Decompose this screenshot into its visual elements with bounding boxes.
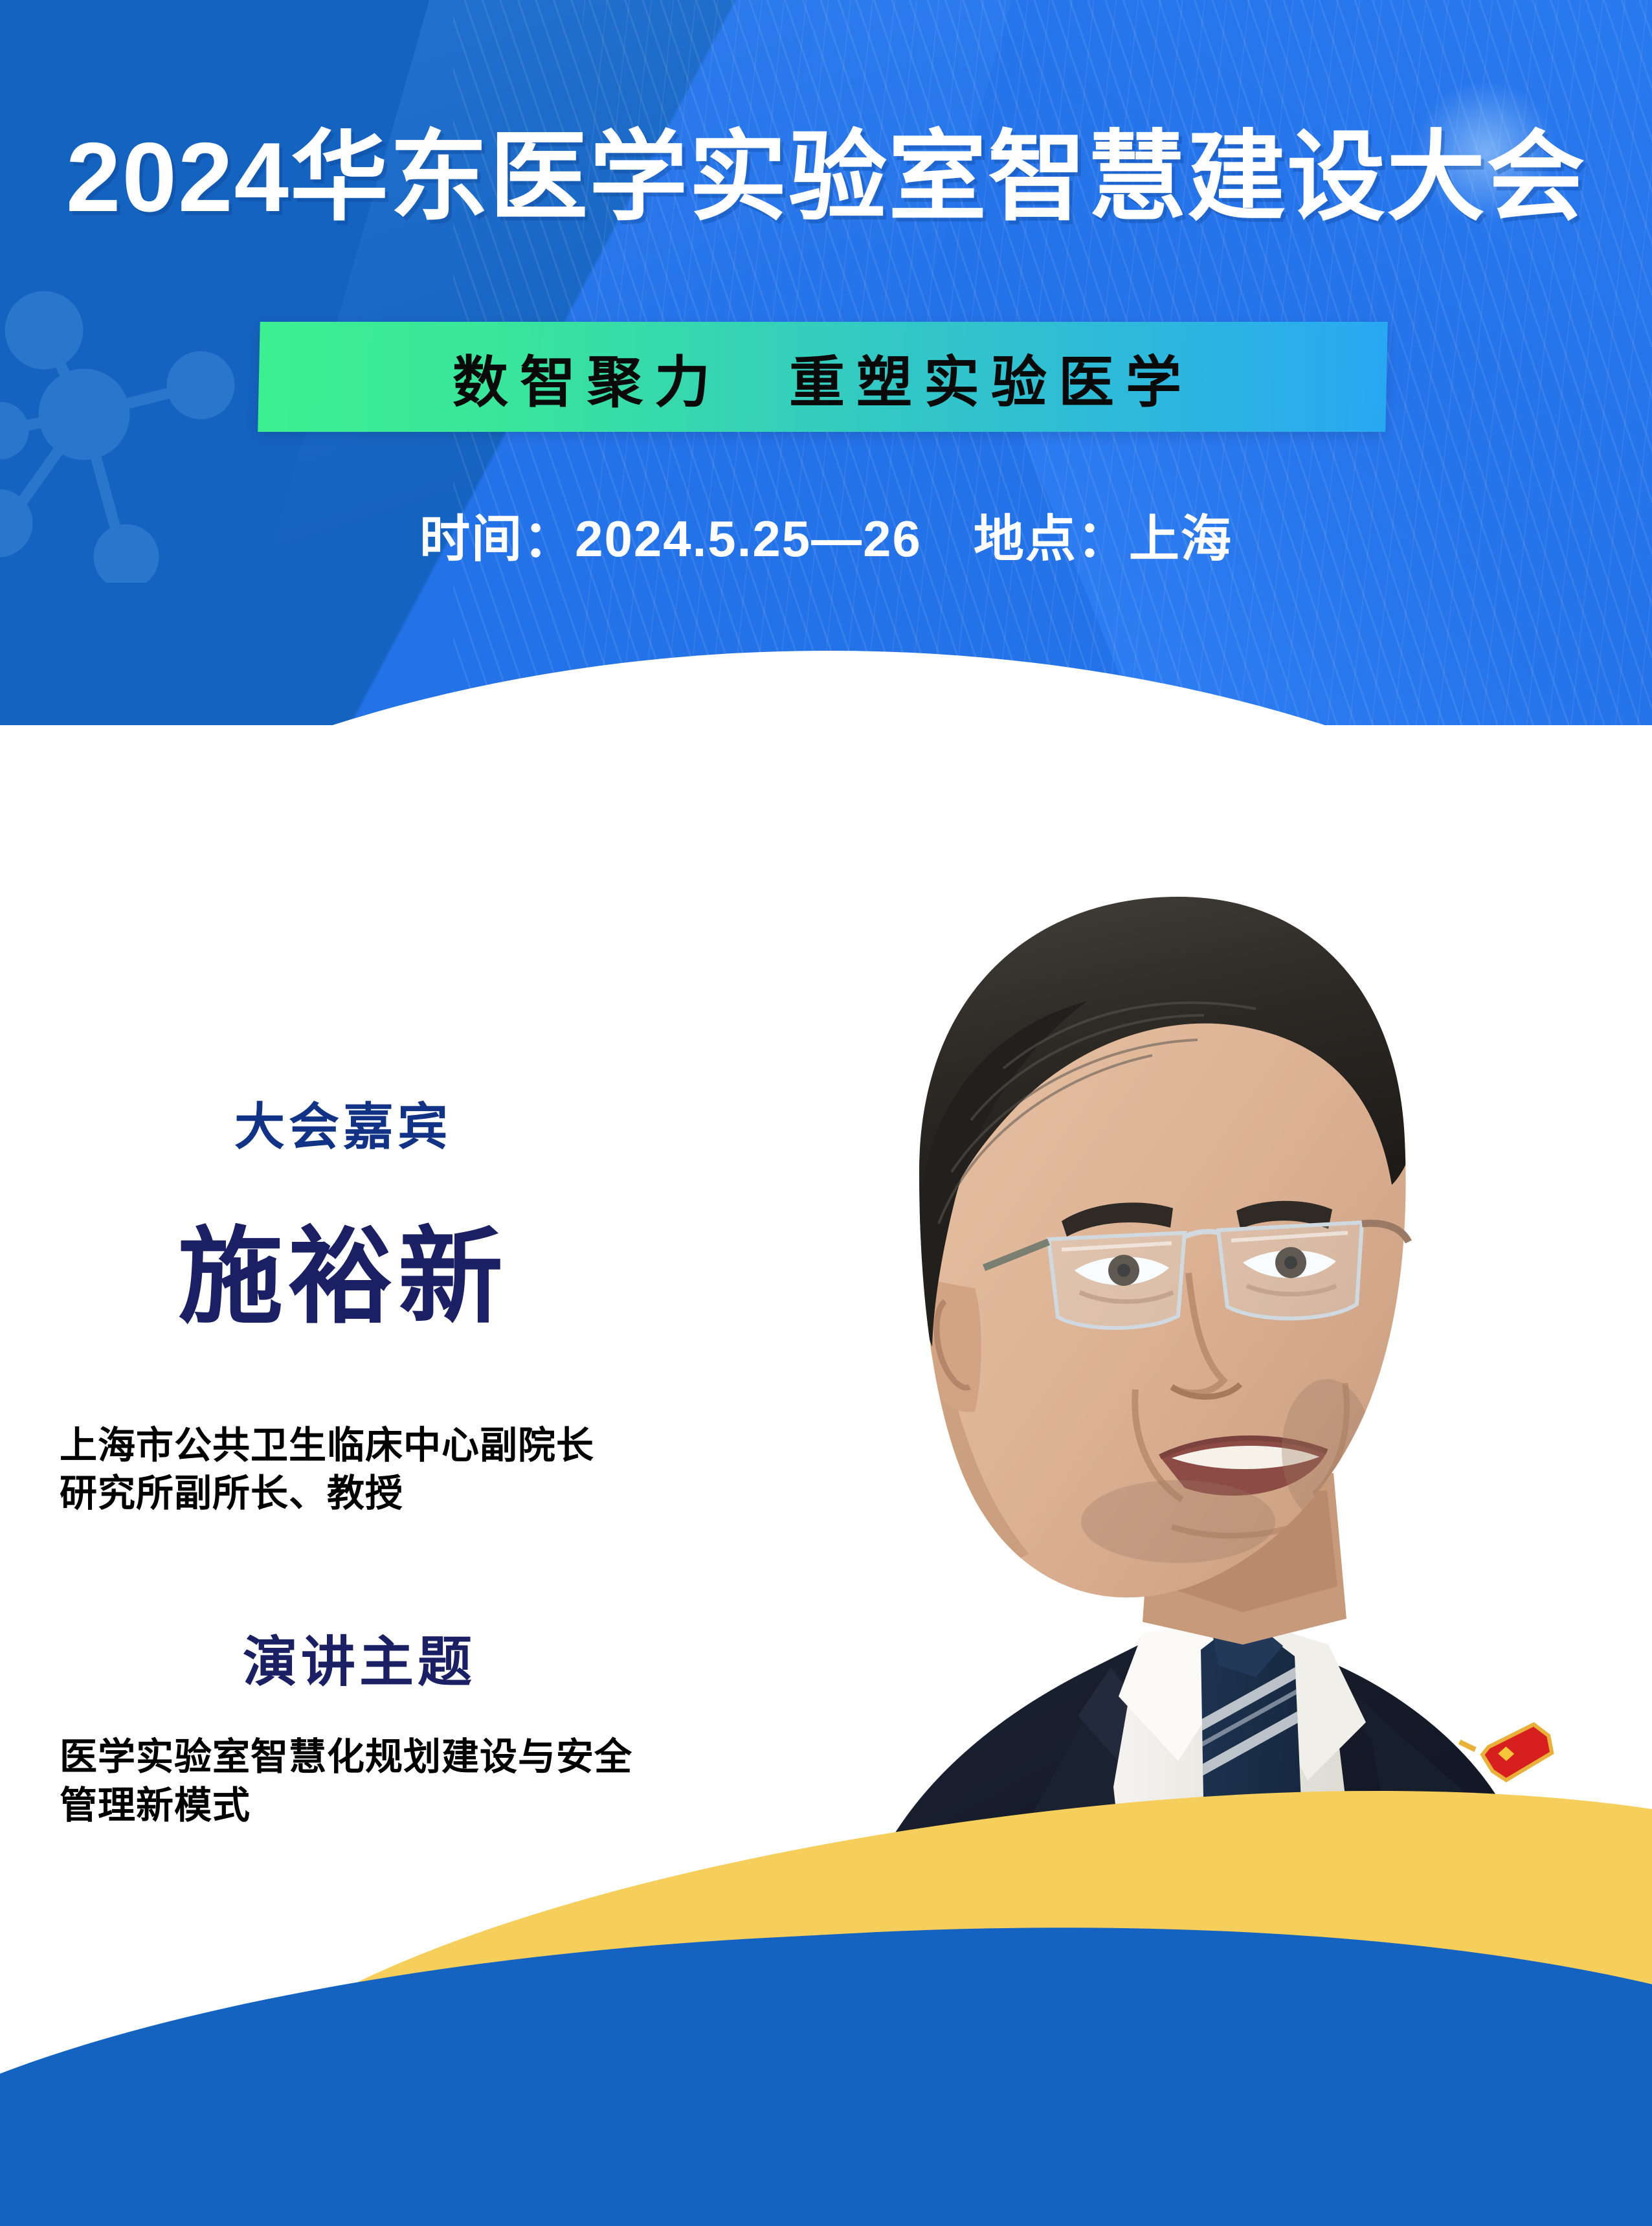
portrait-head [898, 888, 1416, 1597]
topic-section-label: 演讲主题 [0, 1619, 719, 1697]
page-title: 2024华东医学实验室智慧建设大会 [0, 97, 1652, 240]
topic-title-line-2: 管理新模式 [60, 1781, 765, 1830]
guest-name: 施裕新 [0, 1191, 686, 1343]
guest-section-label: 大会嘉宾 [0, 1086, 686, 1159]
conference-poster: 2024华东医学实验室智慧建设大会 数智聚力 重塑实验医学 时间：2024.5.… [0, 0, 1652, 2226]
event-meta-line: 时间：2024.5.25—26 地点：上海 [0, 499, 1652, 571]
tagline-text: 数智聚力 重塑实验医学 [259, 322, 1387, 432]
guest-affiliation: 上海市公共卫生临床中心副院长 研究所副所长、教授 [60, 1422, 746, 1518]
poster-header: 2024华东医学实验室智慧建设大会 数智聚力 重塑实验医学 时间：2024.5.… [0, 0, 1652, 725]
topic-title: 医学实验室智慧化规划建设与安全 管理新模式 [60, 1733, 765, 1830]
topic-title-line-1: 医学实验室智慧化规划建设与安全 [60, 1733, 765, 1781]
guest-affiliation-line-2: 研究所副所长、教授 [60, 1470, 746, 1518]
guest-affiliation-line-1: 上海市公共卫生临床中心副院长 [60, 1422, 746, 1470]
